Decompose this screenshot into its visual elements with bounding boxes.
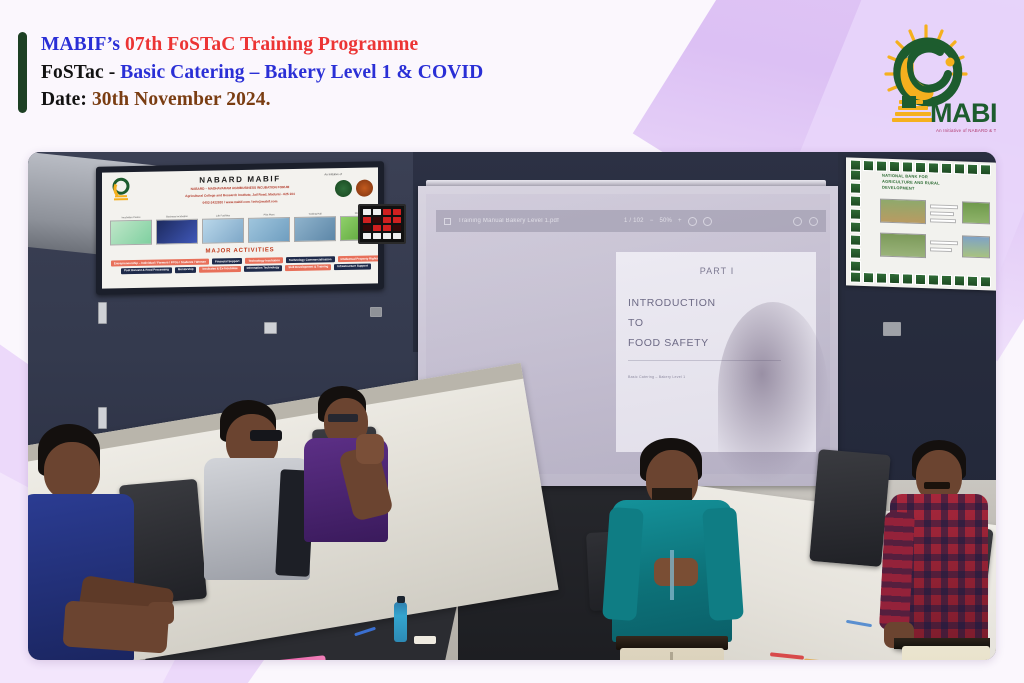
activity-tag: Infrastructure Support bbox=[334, 263, 371, 270]
activity-tag: Incubatee & Ex-Incubatee bbox=[199, 266, 240, 273]
poster-stamp-strip-bottom bbox=[850, 272, 991, 288]
activity-tag: Entrepreneurship – Individual / Farmers … bbox=[111, 259, 209, 267]
wall-socket-right bbox=[883, 322, 901, 336]
activity-tag: Post Harvest & Food Processing bbox=[121, 267, 172, 274]
sunglasses-icon bbox=[250, 430, 282, 441]
poster-thumb: Pilot Plant bbox=[248, 213, 290, 243]
bottle-base bbox=[414, 636, 436, 644]
date-label: Date: bbox=[41, 89, 92, 110]
led-row bbox=[363, 217, 401, 223]
poster-thumb: Lab Facilities bbox=[202, 214, 244, 244]
wall-switch-plate bbox=[98, 407, 107, 429]
activity-tag: Financial Support bbox=[212, 258, 242, 264]
poster-logo-left bbox=[108, 176, 134, 202]
poster-thumb-image bbox=[156, 219, 198, 245]
poster-badge: An Initiative of bbox=[324, 172, 342, 176]
activity-tag: Technology Commercialisation bbox=[286, 256, 335, 263]
title-line-2: FoSTac - Basic Catering – Bakery Level 1… bbox=[41, 60, 483, 86]
wall-socket bbox=[264, 322, 277, 334]
led-row bbox=[363, 225, 401, 231]
zoom-in-button[interactable]: + bbox=[678, 218, 682, 224]
wall-switch-plate bbox=[98, 302, 107, 324]
chair bbox=[809, 449, 890, 567]
date-value: 30th November 2024. bbox=[92, 89, 271, 110]
title-line-2-prefix: FoSTac - bbox=[41, 62, 120, 83]
poster-mabif-icon bbox=[108, 176, 134, 202]
lanyard bbox=[670, 550, 674, 600]
nabard-poster-textline bbox=[930, 204, 958, 209]
logo-tagline: An Initiative of NABARD & TNAU bbox=[936, 128, 996, 133]
poster-thumb-image bbox=[110, 220, 152, 246]
title-block: MABIF’s 07th FoSTaC Training Programme F… bbox=[18, 32, 483, 113]
download-icon[interactable] bbox=[793, 217, 802, 226]
fit-page-icon[interactable] bbox=[688, 217, 697, 226]
nabard-poster-textline bbox=[930, 240, 958, 245]
poster-nabard-mabif: An Initiative of NABARD MABIF NABARD – M… bbox=[96, 161, 384, 295]
zoom-out-button[interactable]: − bbox=[650, 218, 654, 224]
poster-thumb: Training Hall bbox=[294, 212, 336, 242]
nabard-poster-image bbox=[962, 235, 990, 258]
activity-tag: Intellectual Property Rights bbox=[338, 255, 382, 262]
bottle-cap bbox=[397, 596, 405, 603]
nabard-poster-heading: NATIONAL BANK FOR AGRICULTURE AND RURAL … bbox=[882, 173, 940, 192]
moustache bbox=[924, 482, 950, 489]
print-icon[interactable] bbox=[809, 217, 818, 226]
pdf-filename: Training Manual Bakery Level 1.pdf bbox=[458, 218, 559, 224]
title-lines: MABIF’s 07th FoSTaC Training Programme F… bbox=[41, 32, 483, 113]
nabard-poster-textline bbox=[930, 211, 954, 216]
led-display-panel bbox=[358, 204, 406, 244]
poster-nabard: NATIONAL BANK FOR AGRICULTURE AND RURAL … bbox=[846, 157, 996, 290]
presenter-shadow bbox=[718, 302, 828, 482]
poster-thumb-image bbox=[248, 217, 290, 243]
menu-icon[interactable] bbox=[444, 218, 451, 225]
header: MABIF’s 07th FoSTaC Training Programme F… bbox=[0, 0, 1024, 152]
water-bottle bbox=[394, 602, 407, 642]
poster-thumb-image bbox=[202, 218, 244, 244]
logo-wordmark: MABIF bbox=[930, 98, 996, 128]
nabard-poster-image bbox=[880, 233, 926, 259]
activity-tag: Technology Incubation bbox=[245, 257, 282, 264]
poster-thumbnails: Incubation Centre Business Incubation La… bbox=[110, 211, 382, 245]
title-line-1-brand: MABIF’s bbox=[41, 34, 125, 55]
activity-tag: Skill Development & Training bbox=[285, 264, 331, 271]
poster-thumb: Incubation Centre bbox=[110, 216, 152, 246]
nabard-poster-textline bbox=[930, 247, 952, 252]
page-indicator: 1 / 102 bbox=[624, 218, 644, 224]
poster-thumb-image bbox=[294, 216, 336, 242]
nabard-poster-image bbox=[962, 201, 990, 224]
title-line-2-course: Basic Catering – Bakery Level 1 & COVID bbox=[120, 62, 483, 83]
accent-bar bbox=[18, 32, 27, 113]
pdf-controls[interactable]: 1 / 102 − 50% + bbox=[624, 217, 712, 226]
activity-tag: Information Technology bbox=[244, 265, 283, 272]
poster-thumb: Business Incubation bbox=[156, 215, 198, 245]
activity-tag: Mentorship bbox=[175, 267, 197, 273]
nabard-poster-textline bbox=[930, 218, 956, 223]
mabif-logo-icon: MABIF An Initiative of NABARD & TNAU bbox=[868, 22, 996, 140]
nabard-poster-image bbox=[880, 199, 926, 225]
poster-activity-tags: Entrepreneurship – Individual / Farmers … bbox=[109, 255, 383, 274]
title-line-3: Date: 30th November 2024. bbox=[41, 87, 483, 113]
poster-stamp-strip-left bbox=[850, 170, 861, 272]
clasped-hands bbox=[654, 558, 698, 586]
photo-content: Training Manual Bakery Level 1.pdf 1 / 1… bbox=[28, 152, 996, 660]
title-line-1-text: 07th FoSTaC Training Programme bbox=[125, 34, 418, 55]
slide-part-label: PART I bbox=[628, 266, 806, 276]
eyeglasses-icon bbox=[328, 414, 358, 422]
rotate-icon[interactable] bbox=[703, 217, 712, 226]
pdf-viewer-toolbar[interactable]: Training Manual Bakery Level 1.pdf 1 / 1… bbox=[436, 210, 826, 232]
pdf-toolbar-right[interactable] bbox=[793, 217, 818, 226]
title-line-1: MABIF’s 07th FoSTaC Training Programme bbox=[41, 32, 483, 58]
wall-socket bbox=[370, 307, 382, 317]
poster-activities-heading: MAJOR ACTIVITIES bbox=[102, 245, 378, 256]
event-photo: Training Manual Bakery Level 1.pdf 1 / 1… bbox=[28, 152, 996, 660]
led-row bbox=[363, 233, 401, 239]
led-row bbox=[363, 209, 401, 215]
zoom-level: 50% bbox=[659, 218, 672, 224]
mabif-logo: MABIF An Initiative of NABARD & TNAU bbox=[868, 22, 996, 140]
